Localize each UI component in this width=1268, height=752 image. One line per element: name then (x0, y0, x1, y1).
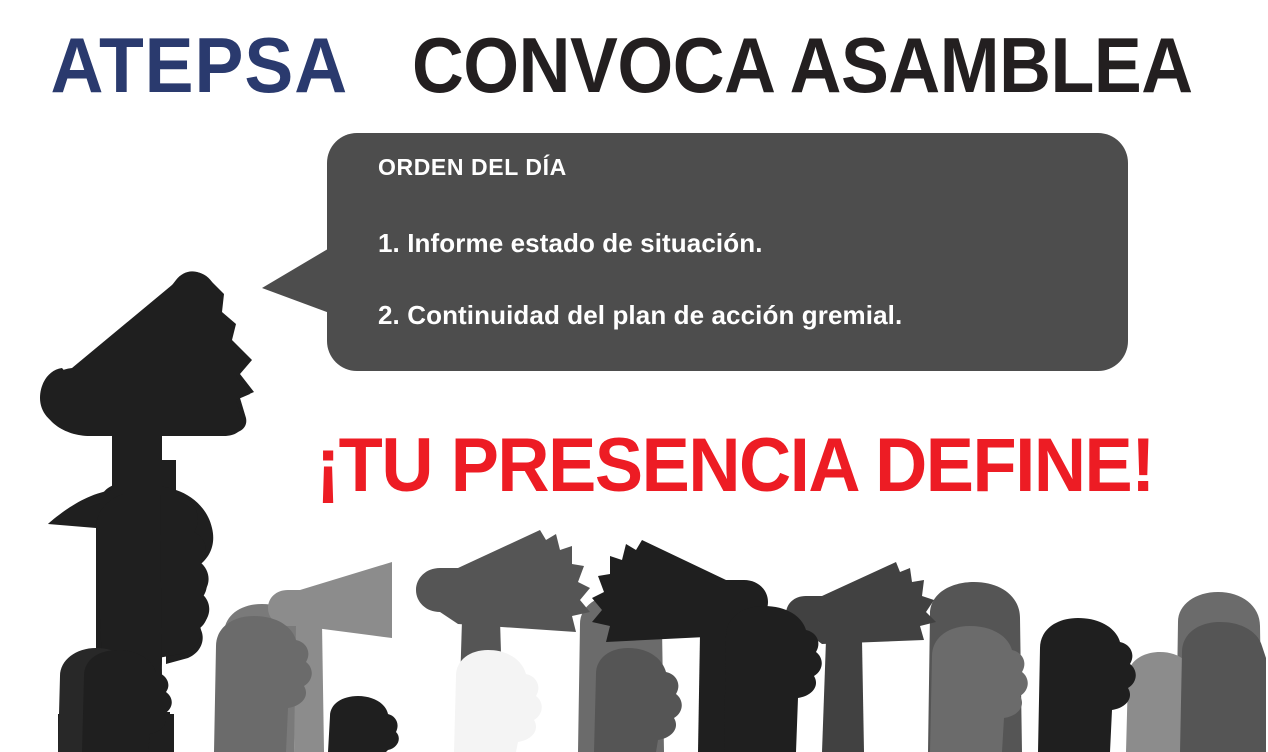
agenda-item-1: 1. Informe estado de situación. (378, 228, 1118, 258)
organization-name: ATEPSA (51, 22, 349, 108)
agenda-list: 1. Informe estado de situación. 2. Conti… (378, 228, 1118, 330)
poster-canvas: ATEPSACONVOCA ASAMBLEA ORDEN DEL DÍA 1. … (0, 0, 1268, 752)
slogan-label: ¡TU PRESENCIA DEFINE! (316, 424, 1154, 508)
protest-crowd-fists-megaphones-icon (0, 528, 1268, 752)
headline-rest: CONVOCA ASAMBLEA (412, 22, 1193, 108)
page-title: ATEPSACONVOCA ASAMBLEA (0, 22, 1268, 108)
agenda-item-2: 2. Continuidad del plan de acción gremia… (378, 300, 1118, 330)
slogan-text: ¡TU PRESENCIA DEFINE! (240, 424, 1230, 508)
agenda-content: ORDEN DEL DÍA 1. Informe estado de situa… (378, 154, 1118, 364)
agenda-speech-bubble: ORDEN DEL DÍA 1. Informe estado de situa… (250, 128, 1140, 380)
agenda-title: ORDEN DEL DÍA (378, 154, 1118, 180)
